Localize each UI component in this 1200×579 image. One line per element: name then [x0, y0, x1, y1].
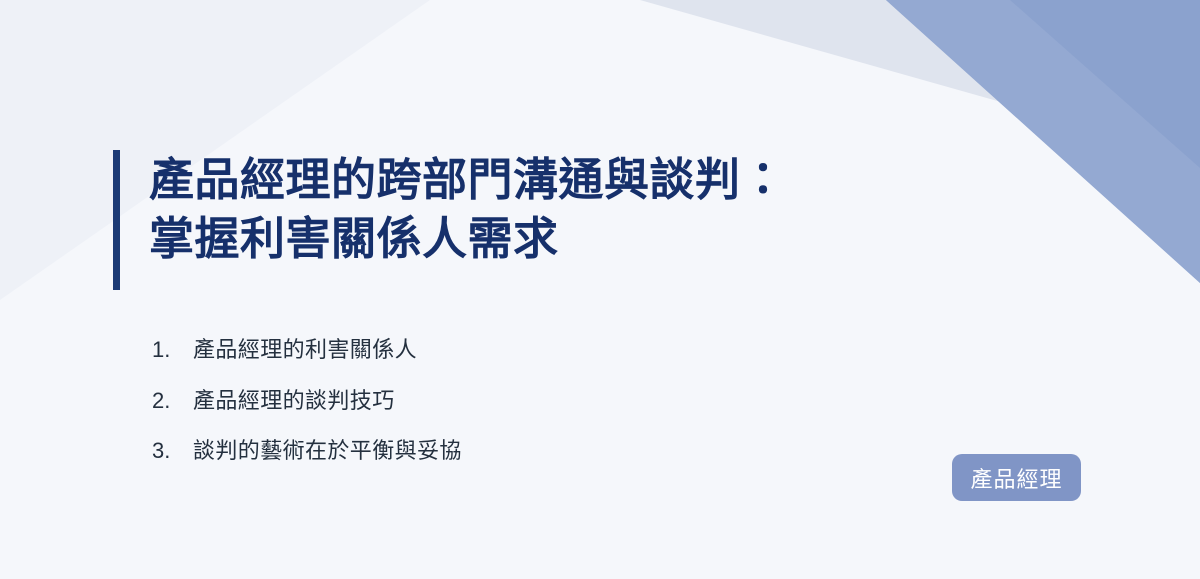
- agenda-list: 1. 產品經理的利害關係人 2. 產品經理的談判技巧 3. 談判的藝術在於平衡與…: [152, 335, 852, 466]
- title-accent-bar: [113, 150, 120, 290]
- list-item: 2. 產品經理的談判技巧: [152, 386, 852, 416]
- list-item-number: 1.: [152, 335, 193, 365]
- slide-canvas: 產品經理的跨部門溝通與談判： 掌握利害關係人需求 1. 產品經理的利害關係人 2…: [0, 0, 1200, 579]
- list-item-label: 產品經理的利害關係人: [193, 335, 417, 365]
- diagonal-wedge-blue-shade: [886, 0, 1200, 283]
- diagonal-wedge-blue: [886, 0, 1200, 283]
- list-item-label: 談判的藝術在於平衡與妥協: [193, 436, 462, 466]
- title-block: 產品經理的跨部門溝通與談判： 掌握利害關係人需求: [113, 150, 786, 290]
- list-item-number: 3.: [152, 436, 193, 466]
- list-item-number: 2.: [152, 386, 193, 416]
- status-badge: 產品經理: [952, 454, 1081, 501]
- list-item-label: 產品經理的談判技巧: [193, 386, 395, 416]
- list-item: 1. 產品經理的利害關係人: [152, 335, 852, 365]
- page-title: 產品經理的跨部門溝通與談判： 掌握利害關係人需求: [149, 150, 786, 290]
- list-item: 3. 談判的藝術在於平衡與妥協: [152, 436, 852, 466]
